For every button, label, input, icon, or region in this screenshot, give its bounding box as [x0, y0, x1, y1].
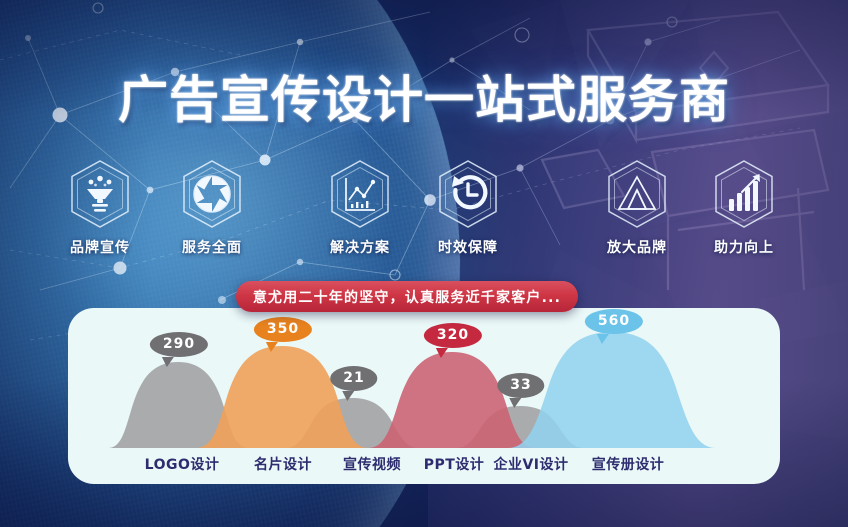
poster-canvas: 广告宣传设计一站式服务商 品牌宣传: [0, 0, 848, 527]
value-bubble-label: 21: [330, 366, 377, 391]
feature-item-timeliness[interactable]: 时效保障: [420, 158, 516, 257]
value-bubble-label: 350: [254, 317, 312, 342]
feature-label: 助力向上: [696, 237, 792, 257]
feature-label: 放大品牌: [589, 237, 685, 257]
feature-item-boost-upward[interactable]: 助力向上: [696, 158, 792, 257]
aperture-icon: [179, 158, 245, 230]
value-bubble-label: 320: [424, 323, 482, 348]
value-bubble: 290: [150, 332, 208, 367]
value-bubble: 21: [330, 366, 377, 401]
category-label: LOGO设计: [145, 454, 220, 474]
feature-label: 时效保障: [420, 237, 516, 257]
category-axis: LOGO设计 名片设计 宣传视频 PPT设计 企业VI设计 宣传册设计: [68, 448, 780, 484]
statistics-card: 290 350 21 320 33 560 LOGO设计 名片设计 宣传视频: [68, 308, 780, 484]
category-label: 宣传视频: [343, 454, 401, 474]
page-title: 广告宣传设计一站式服务商: [0, 60, 848, 132]
feature-item-amplify-brand[interactable]: 放大品牌: [589, 158, 685, 257]
value-bubble: 320: [424, 323, 482, 358]
value-bubble: 560: [585, 309, 643, 344]
value-bubble: 350: [254, 317, 312, 352]
category-label: 宣传册设计: [592, 454, 665, 474]
megaphone-icon: [67, 158, 133, 230]
feature-item-full-service[interactable]: 服务全面: [164, 158, 260, 257]
feature-item-brand-promotion[interactable]: 品牌宣传: [52, 158, 148, 257]
value-bubble-label: 33: [497, 373, 544, 398]
feature-label: 解决方案: [312, 237, 408, 257]
value-bubble-label: 290: [150, 332, 208, 357]
category-label: PPT设计: [424, 454, 485, 474]
slogan-text: 意尤用二十年的坚守，认真服务近千家客户...: [253, 287, 561, 307]
triangle-icon: [604, 158, 670, 230]
value-bubble: 33: [497, 373, 544, 408]
feature-label: 品牌宣传: [52, 237, 148, 257]
bar-growth-icon: [711, 158, 777, 230]
slogan-banner: 意尤用二十年的坚守，认真服务近千家客户...: [236, 281, 578, 312]
category-label: 名片设计: [254, 454, 312, 474]
clock-back-icon: [435, 158, 501, 230]
analytics-icon: [327, 158, 393, 230]
value-bubble-label: 560: [585, 309, 643, 334]
category-label: 企业VI设计: [493, 454, 568, 474]
feature-label: 服务全面: [164, 237, 260, 257]
feature-item-solution[interactable]: 解决方案: [312, 158, 408, 257]
